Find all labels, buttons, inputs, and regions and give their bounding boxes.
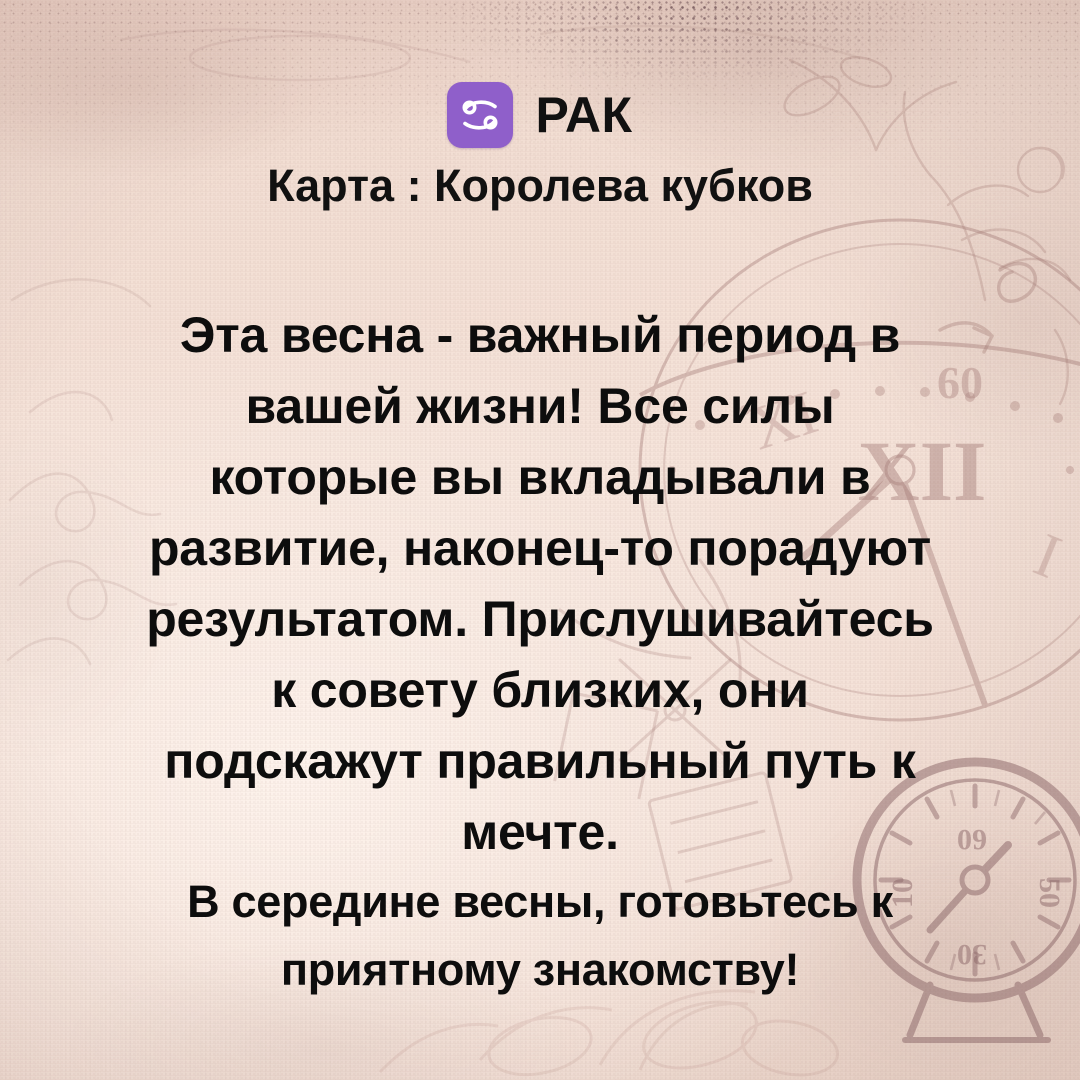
horoscope-body: Эта весна - важный период в вашей жизни!… <box>52 300 1028 1004</box>
closing-line: В середине весны, готовьтесь к <box>52 868 1028 936</box>
body-line: мечте. <box>52 797 1028 868</box>
card-content: РАК Карта : Королева кубков Эта весна - … <box>0 0 1080 1080</box>
body-line: развитие, наконец-то порадуют <box>52 513 1028 584</box>
zodiac-header: РАК <box>0 78 1080 152</box>
body-line: которые вы вкладывали в <box>52 442 1028 513</box>
closing-line: приятному знакомству! <box>52 936 1028 1004</box>
body-line: вашей жизни! Все силы <box>52 371 1028 442</box>
horoscope-card: XII XI I 60 <box>0 0 1080 1080</box>
cancer-zodiac-icon <box>447 82 513 148</box>
body-line: Эта весна - важный период в <box>52 300 1028 371</box>
body-line: к совету близких, они <box>52 655 1028 726</box>
body-line: подскажут правильный путь к <box>52 726 1028 797</box>
zodiac-sign-name: РАК <box>535 90 632 140</box>
tarot-card-label: Карта : Королева кубков <box>0 162 1080 209</box>
body-line: результатом. Прислушивайтесь <box>52 584 1028 655</box>
